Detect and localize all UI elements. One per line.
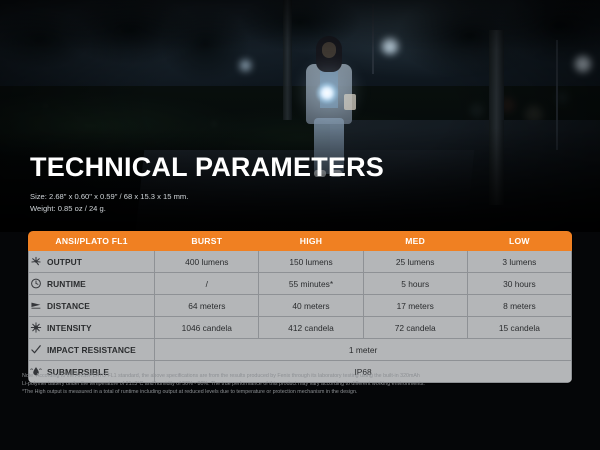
row-label-text: RUNTIME xyxy=(47,279,86,289)
cell-output-med: 25 lumens xyxy=(363,251,467,273)
cell-distance-high: 40 meters xyxy=(259,295,363,317)
cell-intensity-high: 412 candela xyxy=(259,317,363,339)
row-label-text: IMPACT RESISTANCE xyxy=(47,345,136,355)
row-label-impact-resistance: IMPACT RESISTANCE xyxy=(29,339,155,361)
bokeh-light xyxy=(575,56,591,72)
spec-table: ANSI/PLATO FL1 BURST HIGH MED LOW xyxy=(28,231,572,383)
table-row: INTENSITY 1046 candela 412 candela 72 ca… xyxy=(29,317,572,339)
tree-trunk xyxy=(283,0,292,120)
cell-impact-resistance-value: 1 meter xyxy=(155,339,572,361)
person-face xyxy=(322,42,336,58)
header-cell-burst: BURST xyxy=(155,232,259,251)
size-line: Size: 2.68" x 0.60" x 0.59" / 68 x 15.3 … xyxy=(30,191,384,203)
cell-distance-low: 8 meters xyxy=(467,295,571,317)
intensity-star-icon xyxy=(29,321,43,334)
footnote-block: Note: According to the ANSI/PLATO FL1 st… xyxy=(22,372,580,396)
cell-runtime-burst: / xyxy=(155,273,259,295)
product-spec-page: TECHNICAL PARAMETERS Size: 2.68" x 0.60"… xyxy=(0,0,600,450)
flashlight-beam-icon xyxy=(316,82,338,104)
cell-output-burst: 400 lumens xyxy=(155,251,259,273)
header-cell-high: HIGH xyxy=(259,232,363,251)
clock-icon xyxy=(29,277,43,290)
weight-line: Weight: 0.85 oz / 24 g. xyxy=(30,203,384,215)
row-label-runtime: RUNTIME xyxy=(29,273,155,295)
header-cell-standard: ANSI/PLATO FL1 xyxy=(29,232,155,251)
spec-table-body: OUTPUT 400 lumens 150 lumens 25 lumens 3… xyxy=(29,251,572,383)
impact-resistance-icon xyxy=(29,343,43,356)
page-title: TECHNICAL PARAMETERS xyxy=(30,152,384,182)
beam-distance-icon xyxy=(29,299,43,312)
cell-runtime-med: 5 hours xyxy=(363,273,467,295)
cell-distance-burst: 64 meters xyxy=(155,295,259,317)
header-row: ANSI/PLATO FL1 BURST HIGH MED LOW xyxy=(29,232,572,251)
street-pole xyxy=(372,4,374,74)
cell-output-high: 150 lumens xyxy=(259,251,363,273)
footnote-line-2: Li-polymer battery under the temperature… xyxy=(22,380,580,388)
footnote-line-3: *The High output is measured in a total … xyxy=(22,388,580,396)
row-label-distance: DISTANCE xyxy=(29,295,155,317)
bokeh-light xyxy=(382,38,398,54)
cell-distance-med: 17 meters xyxy=(363,295,467,317)
header-cell-med: MED xyxy=(363,232,467,251)
heading-block: TECHNICAL PARAMETERS Size: 2.68" x 0.60"… xyxy=(30,152,384,216)
spec-table-head: ANSI/PLATO FL1 BURST HIGH MED LOW xyxy=(29,232,572,251)
table-row: IMPACT RESISTANCE 1 meter xyxy=(29,339,572,361)
cell-intensity-low: 15 candela xyxy=(467,317,571,339)
table-row: RUNTIME / 55 minutes* 5 hours 30 hours xyxy=(29,273,572,295)
row-label-text: DISTANCE xyxy=(47,301,90,311)
header-cell-low: LOW xyxy=(467,232,571,251)
cell-runtime-high: 55 minutes* xyxy=(259,273,363,295)
footnote-line-1: Note: According to the ANSI/PLATO FL1 st… xyxy=(22,372,580,380)
row-label-output: OUTPUT xyxy=(29,251,155,273)
row-label-intensity: INTENSITY xyxy=(29,317,155,339)
row-label-text: INTENSITY xyxy=(47,323,92,333)
cell-intensity-burst: 1046 candela xyxy=(155,317,259,339)
bokeh-light xyxy=(240,60,251,71)
cell-runtime-low: 30 hours xyxy=(467,273,571,295)
burst-rays-icon xyxy=(29,255,43,268)
cell-intensity-med: 72 candela xyxy=(363,317,467,339)
spec-table-wrap: ANSI/PLATO FL1 BURST HIGH MED LOW xyxy=(28,231,572,383)
tree-trunk xyxy=(489,30,504,205)
cell-output-low: 3 lumens xyxy=(467,251,571,273)
row-label-text: OUTPUT xyxy=(47,257,82,267)
table-row: OUTPUT 400 lumens 150 lumens 25 lumens 3… xyxy=(29,251,572,273)
table-row: DISTANCE 64 meters 40 meters 17 meters 8… xyxy=(29,295,572,317)
street-pole xyxy=(556,40,558,150)
